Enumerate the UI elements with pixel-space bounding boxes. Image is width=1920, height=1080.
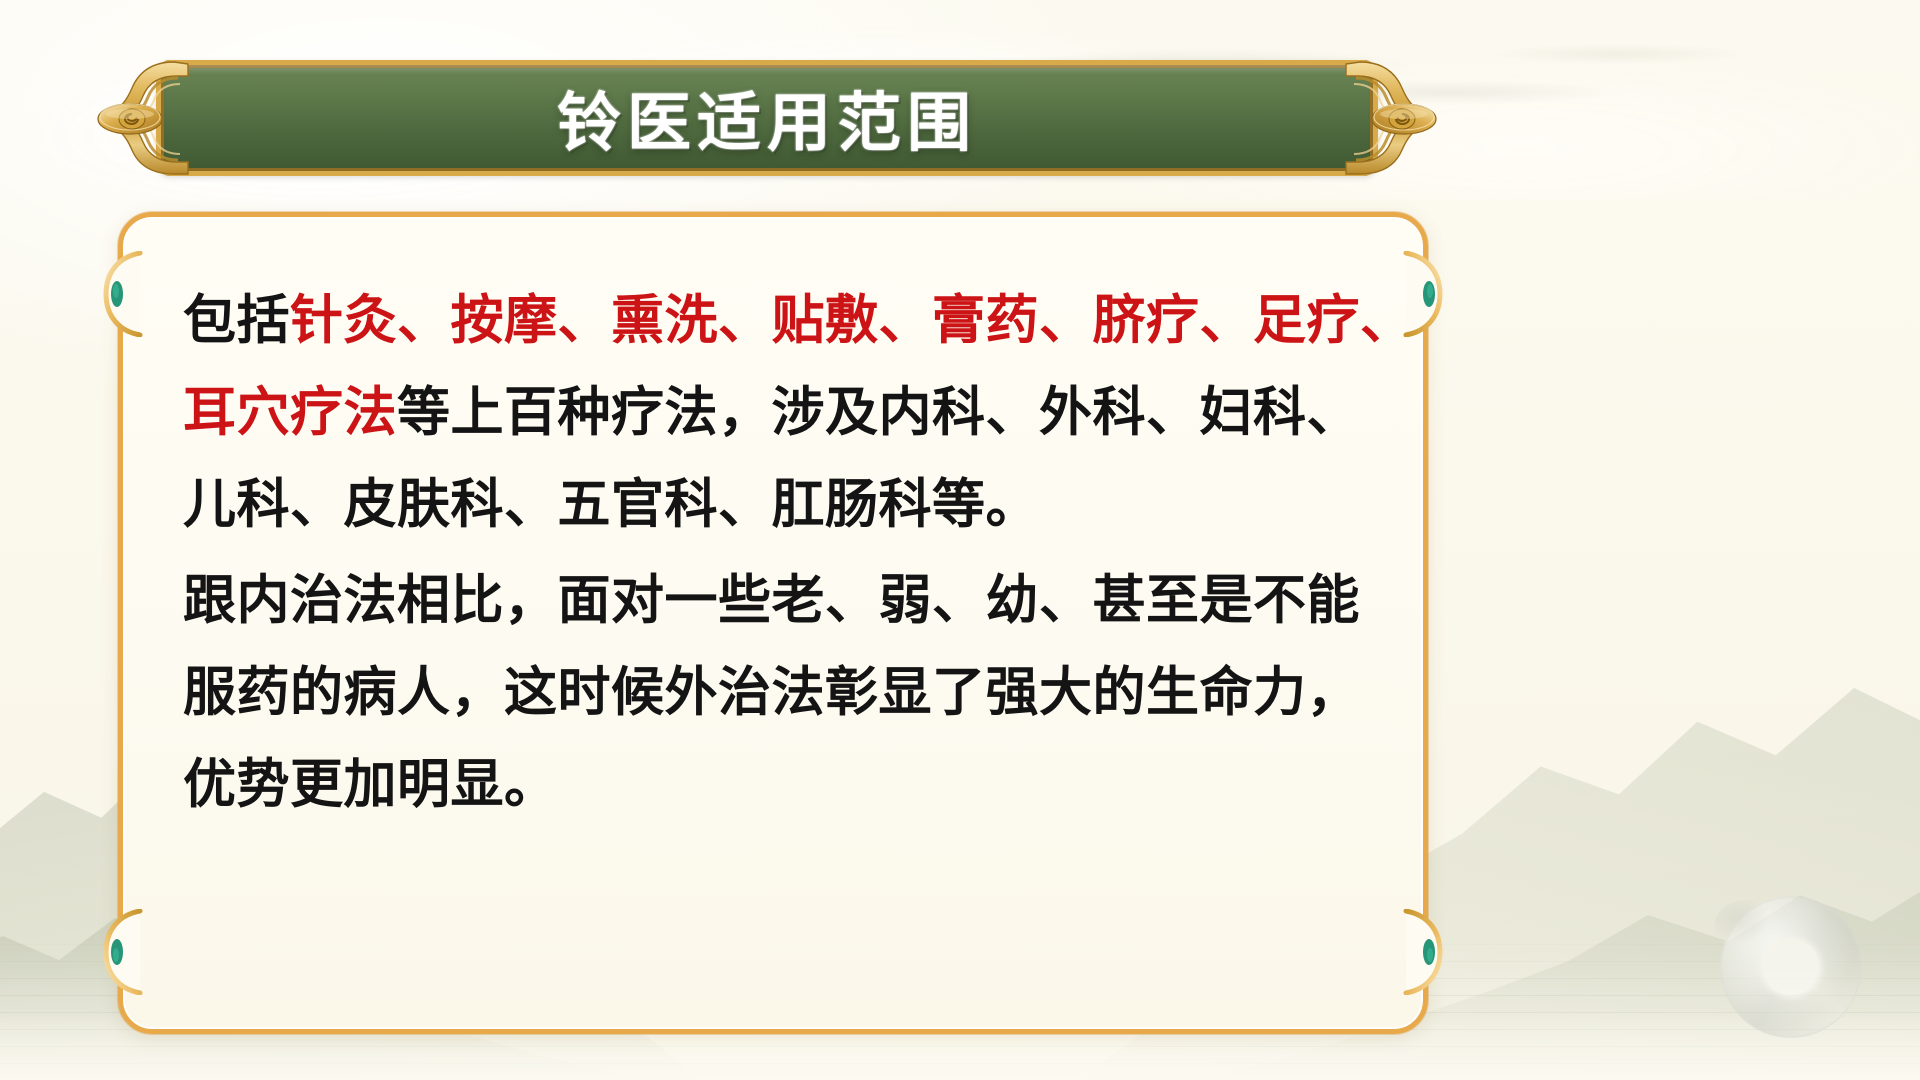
text-line: 耳穴疗法等上百种疗法，涉及内科、外科、妇科、 (183, 367, 1373, 459)
slide-root: 铃医适用范围 (0, 0, 1920, 1080)
highlighted-text-run: 针灸、按摩、熏洗、贴敷、膏药、脐疗、足疗、 (290, 291, 1414, 350)
card-corner-bottom-right-icon (1400, 909, 1446, 995)
highlighted-text-run: 耳穴疗法 (183, 383, 397, 442)
text-line: 服药的病人，这时候外治法彰显了强大的生命力， (183, 647, 1373, 739)
card-corner-top-left-icon (100, 251, 146, 337)
text-run: 包括 (183, 291, 290, 350)
text-run: 跟内治法相比，面对一些老、弱、幼、甚至是不能 (183, 571, 1360, 630)
title-banner: 铃医适用范围 (96, 52, 1438, 184)
text-line: 跟内治法相比，面对一些老、弱、幼、甚至是不能 (183, 555, 1373, 647)
page-title: 铃医适用范围 (156, 60, 1378, 176)
jade-dragon-ring-watermark-icon (1720, 896, 1862, 1038)
text-line: 优势更加明显。 (183, 739, 1373, 831)
text-run: 等上百种疗法，涉及内科、外科、妇科、 (397, 383, 1360, 442)
text-line: 包括针灸、按摩、熏洗、贴敷、膏药、脐疗、足疗、 (183, 275, 1373, 367)
body-text: 包括针灸、按摩、熏洗、贴敷、膏药、脐疗、足疗、耳穴疗法等上百种疗法，涉及内科、外… (183, 275, 1373, 831)
text-run: 服药的病人，这时候外治法彰显了强大的生命力， (183, 663, 1360, 722)
paragraph: 跟内治法相比，面对一些老、弱、幼、甚至是不能服药的病人，这时候外治法彰显了强大的… (183, 555, 1373, 831)
card-corner-bottom-left-icon (100, 909, 146, 995)
content-card: 包括针灸、按摩、熏洗、贴敷、膏药、脐疗、足疗、耳穴疗法等上百种疗法，涉及内科、外… (118, 212, 1428, 1034)
text-line: 儿科、皮肤科、五官科、肛肠科等。 (183, 459, 1373, 551)
paragraph: 包括针灸、按摩、熏洗、贴敷、膏药、脐疗、足疗、耳穴疗法等上百种疗法，涉及内科、外… (183, 275, 1373, 551)
text-run: 儿科、皮肤科、五官科、肛肠科等。 (183, 475, 1039, 534)
text-run: 优势更加明显。 (183, 755, 558, 814)
